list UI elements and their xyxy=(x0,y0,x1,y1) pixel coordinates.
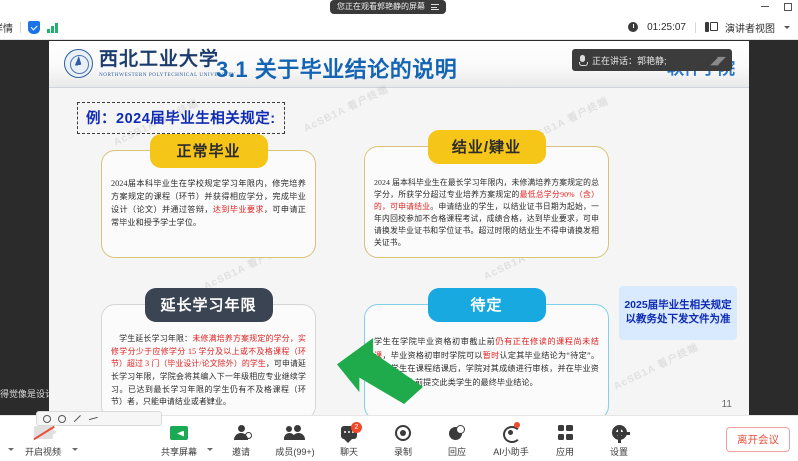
invite-label: 邀请 xyxy=(232,445,250,458)
meeting-info-right: 01:25:07 演讲者视图 xyxy=(628,14,790,40)
body-text: ，毕业资格初审时学院可以 xyxy=(382,351,482,360)
meeting-info-left: 详情 xyxy=(0,14,58,40)
meeting-timer: 01:25:07 xyxy=(647,22,686,33)
viewing-screen-text: 您正在观看郭艳静的屏幕 xyxy=(337,0,425,14)
annotation-toolbar[interactable] xyxy=(36,411,162,426)
card-extend-study-period: 延长学习年限 学生延长学习年限：未修满培养方案规定的学分，实修学分少于应修学分 … xyxy=(101,304,316,415)
shared-screen-stage: 得觉像是设计划内申 说点什么... ‹ CH 西北工业大学 NORTHWESTE… xyxy=(0,40,798,415)
apps-button[interactable]: 应用 xyxy=(539,419,591,458)
minimize-button[interactable] xyxy=(760,1,770,11)
watermark: AcSB1A 看户终端 xyxy=(300,80,390,134)
share-screen-icon xyxy=(170,423,188,442)
microphone-icon xyxy=(579,55,586,66)
example-heading: 例：2024届毕业生相关规定: xyxy=(77,102,285,134)
card-completion-or-withdrawal: 结业/肄业 2024 届本科毕业生在最长学习年限内，未修满培养方案规定的总学分，… xyxy=(364,146,609,258)
presentation-slide: 西北工业大学 NORTHWESTERN POLYTECHNICAL UNIVER… xyxy=(49,41,749,415)
network-signal-icon[interactable] xyxy=(47,22,58,33)
leave-meeting-label: 离开会议 xyxy=(737,434,779,446)
ai-assistant-label: AI小助手 xyxy=(493,445,529,458)
ai-new-dot-icon xyxy=(514,422,520,428)
reaction-button[interactable]: 回应 xyxy=(431,419,483,458)
right-dark-panel: CH xyxy=(749,80,798,415)
members-icon xyxy=(286,423,305,442)
layout-icon xyxy=(705,22,716,32)
invite-button[interactable]: 邀请 xyxy=(215,419,267,458)
reaction-label: 回应 xyxy=(448,445,466,458)
controls-center-group: 共享屏幕 邀请 成员(99+) 2 聊天 录 xyxy=(153,419,645,458)
window-controls xyxy=(760,1,792,11)
chat-unread-badge: 2 xyxy=(351,422,362,433)
settings-label: 设置 xyxy=(610,445,628,458)
pen-tool-icon[interactable] xyxy=(73,414,82,423)
slide-title: 3.1 关于毕业结论的说明 xyxy=(216,52,457,84)
video-toggle-label: 开启视频 xyxy=(25,445,61,458)
security-shield-icon[interactable] xyxy=(28,21,40,34)
record-label: 录制 xyxy=(394,445,412,458)
highlighted-text: 达到毕业要求 xyxy=(213,205,264,214)
ai-assistant-button[interactable]: AI小助手 xyxy=(485,419,537,458)
maximize-button[interactable] xyxy=(782,1,792,11)
eraser-tool-icon[interactable] xyxy=(87,412,99,424)
settings-button[interactable]: 设置 xyxy=(593,419,645,458)
slide-body: AcSB1A 看户终端 AcSB1A 看户终端 AcSB1A 看户终端 AcSB… xyxy=(49,88,749,415)
members-button[interactable]: 成员(99+) xyxy=(269,419,321,458)
leave-meeting-button[interactable]: 离开会议 xyxy=(726,427,790,452)
chat-icon: 2 xyxy=(341,423,357,442)
card-title: 延长学习年限 xyxy=(144,288,272,322)
meeting-topic-text: 详情 xyxy=(0,20,13,35)
body-text: 学生延长学习年限： xyxy=(111,334,192,343)
callout-text: 2025届毕业生相关规定以教务处下发文件为准 xyxy=(624,299,732,327)
view-mode-label[interactable]: 演讲者视图 xyxy=(725,20,775,35)
record-icon xyxy=(395,423,411,442)
card-title: 结业/肄业 xyxy=(428,130,546,164)
body-text: 学生在学院毕业资格初审截止前 xyxy=(374,337,495,346)
apps-label: 应用 xyxy=(556,445,574,458)
meeting-window: 您正在观看郭艳静的屏幕 详情 01:25:07 演讲者视图 得觉像是设计划内申 … xyxy=(0,0,798,461)
clock-icon xyxy=(628,22,638,32)
viewing-screen-notice: 您正在观看郭艳静的屏幕 xyxy=(330,0,446,14)
slide-page-number: 11 xyxy=(722,399,732,410)
apps-grid-icon xyxy=(558,423,573,442)
card-title: 正常毕业 xyxy=(150,134,268,168)
share-screen-label: 共享屏幕 xyxy=(161,445,197,458)
divider xyxy=(695,22,696,33)
chat-button[interactable]: 2 聊天 xyxy=(323,419,375,458)
reaction-icon xyxy=(449,423,465,442)
chevron-up-icon[interactable] xyxy=(207,448,213,451)
card-normal-graduation: 正常毕业 2024届本科毕业生在学校规定学习年限内，修完培养方案规定的课程（环节… xyxy=(101,150,316,258)
audio-wave-icon: ◢◤ xyxy=(710,54,725,67)
ai-assistant-icon xyxy=(503,423,519,442)
active-speaker-text: 正在讲话：郭艳静; xyxy=(592,54,667,67)
watermark: AcSB1A 看户终端 xyxy=(610,338,700,392)
invite-person-icon xyxy=(234,423,249,442)
circle-tool-icon[interactable] xyxy=(58,415,66,423)
chevron-down-icon[interactable] xyxy=(784,26,790,29)
left-dark-panel: 得觉像是设计划内申 说点什么... ‹ xyxy=(0,80,49,415)
notice-menu-icon[interactable] xyxy=(431,3,439,12)
chat-label: 聊天 xyxy=(340,445,358,458)
chat-snippet-message: 得觉像是设计划内申 xyxy=(0,387,49,400)
highlighted-text: 暂时 xyxy=(483,351,500,360)
active-speaker-pill: 正在讲话：郭艳静; ◢◤ xyxy=(572,49,732,71)
university-seal-icon xyxy=(64,49,93,78)
divider xyxy=(20,22,21,33)
card-title: 待定 xyxy=(428,288,546,322)
callout-2025-notice: 2025届毕业生相关规定以教务处下发文件为准 xyxy=(619,286,737,340)
card-body-text: 2024届本科毕业生在学校规定学习年限内，修完培养方案规定的课程（环节）并获得相… xyxy=(111,177,306,229)
gear-icon xyxy=(612,423,627,442)
chevron-up-icon[interactable] xyxy=(72,448,78,451)
card-body-text: 学生延长学习年限：未修满培养方案规定的学分，实修学分少于应修学分 15 学分及以… xyxy=(111,333,306,409)
circle-tool-icon[interactable] xyxy=(43,415,51,423)
chevron-up-icon[interactable] xyxy=(8,448,14,451)
meeting-info-bar: 详情 01:25:07 演讲者视图 xyxy=(0,14,798,40)
record-button[interactable]: 录制 xyxy=(377,419,429,458)
university-logo: 西北工业大学 NORTHWESTERN POLYTECHNICAL UNIVER… xyxy=(64,49,236,78)
card-body-text: 2024 届本科毕业生在最长学习年限内，未修满培养方案规定的总学分，所获学分超过… xyxy=(374,177,599,249)
members-label: 成员(99+) xyxy=(275,445,314,458)
